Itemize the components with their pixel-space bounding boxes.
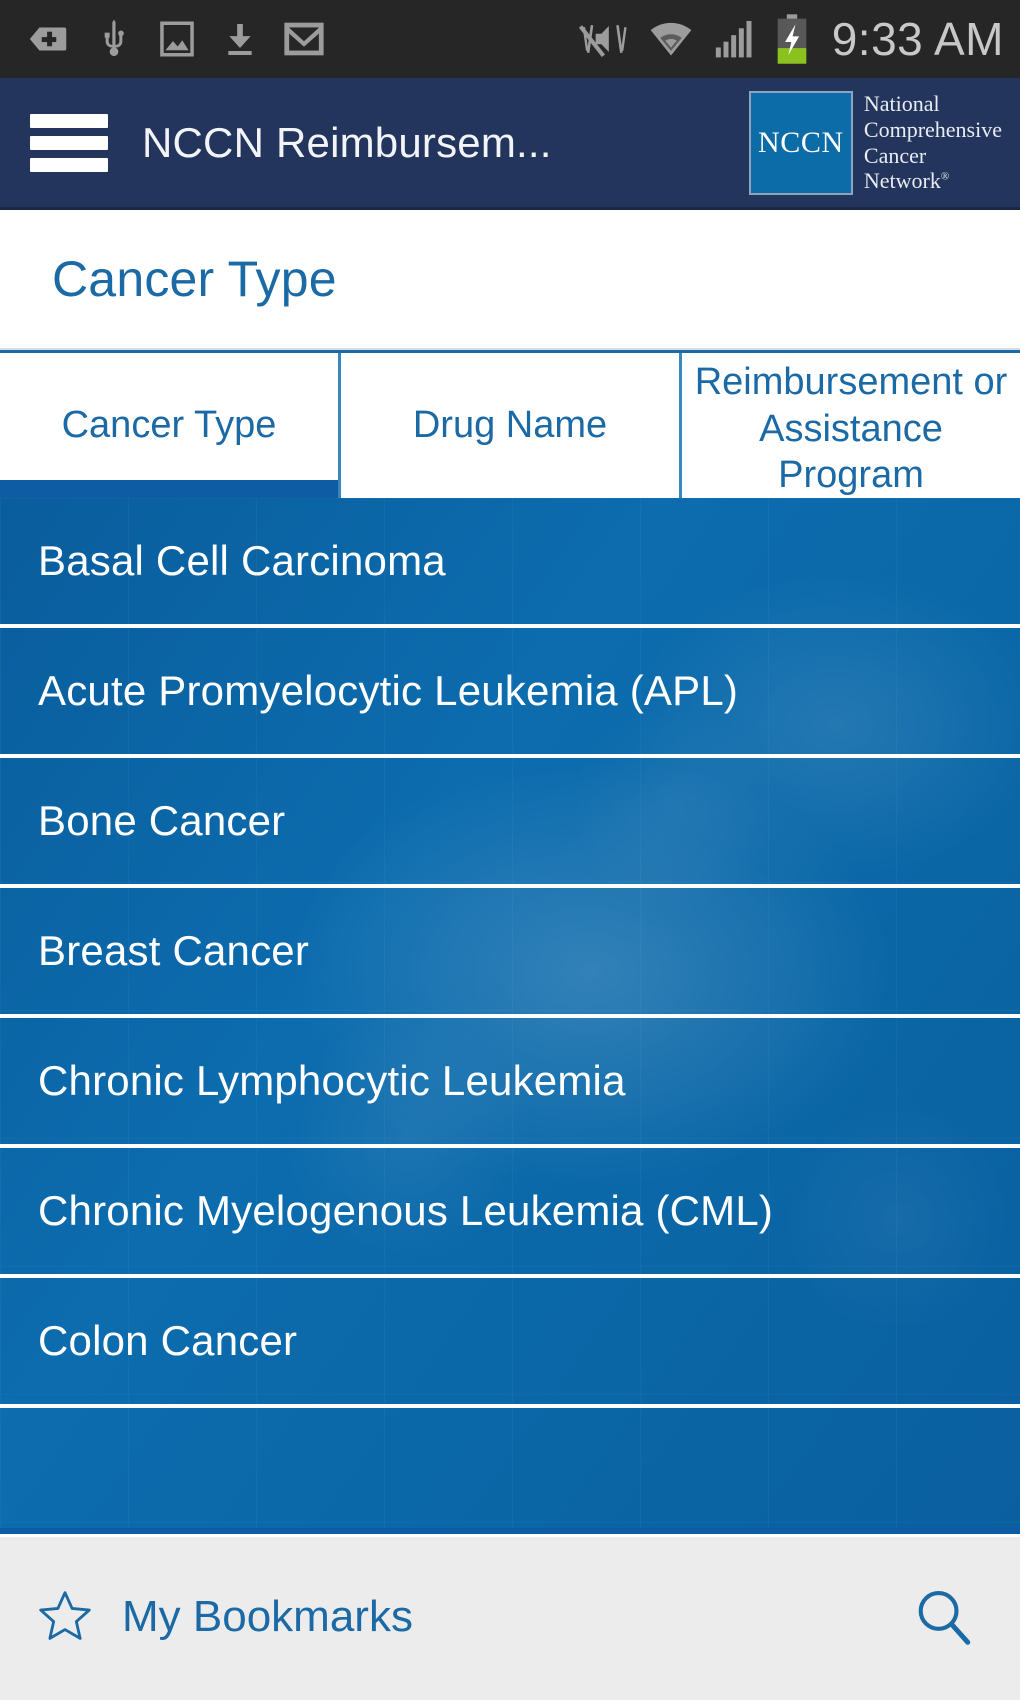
cancer-type-list[interactable]: Basal Cell Carcinoma Acute Promyelocytic… bbox=[0, 498, 1020, 1528]
download-icon bbox=[220, 16, 260, 62]
nccn-logo-line-1: National bbox=[864, 91, 1002, 117]
nccn-logo-line-3: Cancer bbox=[864, 143, 1002, 169]
list-item[interactable]: Breast Cancer bbox=[0, 888, 1020, 1018]
list-item-label: Basal Cell Carcinoma bbox=[38, 537, 446, 585]
status-bar-notification-icons bbox=[26, 16, 326, 62]
battery-charging-icon bbox=[774, 13, 810, 65]
tab-bar: Cancer Type Drug Name Reimbursement or A… bbox=[0, 350, 1020, 498]
page-title-bar: Cancer Type bbox=[0, 210, 1020, 350]
nccn-logo-line-4: Network® bbox=[864, 168, 1002, 194]
page-title: Cancer Type bbox=[52, 250, 337, 308]
hamburger-bar bbox=[30, 114, 108, 128]
usb-icon bbox=[94, 16, 134, 62]
my-bookmarks-button[interactable]: My Bookmarks bbox=[34, 1586, 413, 1648]
tab-reimbursement-or-assistance-program[interactable]: Reimbursement or Assistance Program bbox=[679, 353, 1020, 498]
list-item-label: Colon Cancer bbox=[38, 1317, 297, 1365]
list-item-label: Bone Cancer bbox=[38, 797, 285, 845]
app-bar: NCCN Reimbursem... NCCN National Compreh… bbox=[0, 78, 1020, 210]
list-item-label: Acute Promyelocytic Leukemia (APL) bbox=[38, 667, 738, 715]
android-status-bar: 9:33 AM bbox=[0, 0, 1020, 78]
bottom-toolbar: My Bookmarks bbox=[0, 1528, 1020, 1700]
tab-active-indicator bbox=[0, 480, 338, 498]
nccn-logo-wordmark: National Comprehensive Cancer Network® bbox=[864, 91, 1002, 194]
list-item-label: Chronic Lymphocytic Leukemia bbox=[38, 1057, 626, 1105]
list-item[interactable]: Basal Cell Carcinoma bbox=[0, 498, 1020, 628]
star-outline-icon bbox=[34, 1586, 96, 1648]
tab-label: Drug Name bbox=[413, 402, 607, 449]
list-item[interactable]: Acute Promyelocytic Leukemia (APL) bbox=[0, 628, 1020, 758]
wifi-icon bbox=[646, 16, 696, 62]
list-item[interactable]: Chronic Lymphocytic Leukemia bbox=[0, 1018, 1020, 1148]
image-icon bbox=[156, 16, 198, 62]
tab-label: Reimbursement or Assistance Program bbox=[690, 359, 1012, 498]
search-button[interactable] bbox=[910, 1584, 976, 1650]
list-item[interactable]: Chronic Myelogenous Leukemia (CML) bbox=[0, 1148, 1020, 1278]
tab-drug-name[interactable]: Drug Name bbox=[338, 353, 679, 498]
list-item-label: Breast Cancer bbox=[38, 927, 309, 975]
nccn-logo-mark: NCCN bbox=[749, 91, 853, 195]
nccn-logo-mark-text: NCCN bbox=[758, 126, 844, 160]
status-bar-system-icons: 9:33 AM bbox=[578, 13, 1004, 65]
cellular-signal-icon bbox=[712, 16, 758, 62]
tab-label: Cancer Type bbox=[62, 402, 277, 449]
app-screen: 9:33 AM NCCN Reimbursem... NCCN National… bbox=[0, 0, 1020, 1700]
app-title: NCCN Reimbursem... bbox=[142, 119, 552, 167]
status-bar-clock: 9:33 AM bbox=[832, 16, 1004, 62]
gmail-icon bbox=[282, 16, 326, 62]
hamburger-bar bbox=[30, 158, 108, 172]
tab-cancer-type[interactable]: Cancer Type bbox=[0, 353, 338, 498]
nccn-logo-line-2: Comprehensive bbox=[864, 117, 1002, 143]
search-icon bbox=[910, 1584, 976, 1650]
hamburger-menu-icon[interactable] bbox=[30, 114, 108, 172]
my-bookmarks-label: My Bookmarks bbox=[122, 1592, 413, 1642]
list-item-label: Chronic Myelogenous Leukemia (CML) bbox=[38, 1187, 773, 1235]
list-item[interactable]: Colon Cancer bbox=[0, 1278, 1020, 1408]
volume-mute-vibrate-icon bbox=[578, 16, 630, 62]
tag-plus-icon bbox=[26, 16, 72, 62]
list-item[interactable]: Bone Cancer bbox=[0, 758, 1020, 888]
hamburger-bar bbox=[30, 136, 108, 150]
nccn-logo: NCCN National Comprehensive Cancer Netwo… bbox=[749, 91, 1002, 195]
